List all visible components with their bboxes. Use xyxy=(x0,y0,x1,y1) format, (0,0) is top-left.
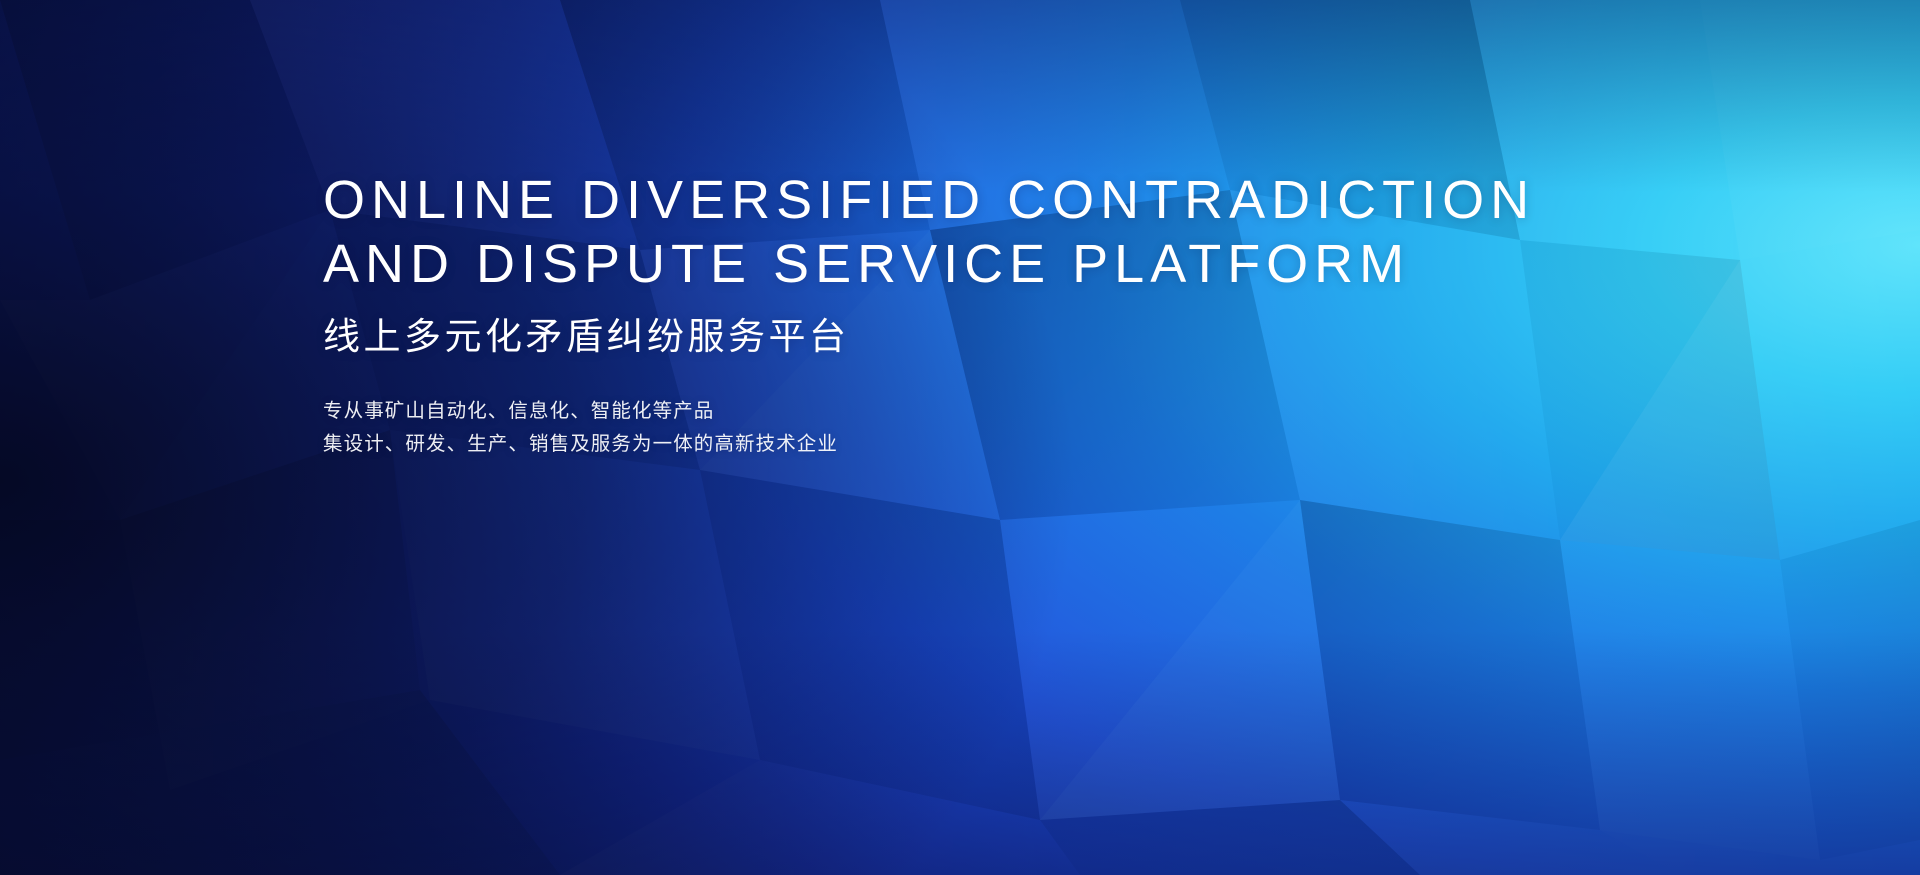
hero-banner: ONLINE DIVERSIFIED CONTRADICTION AND DIS… xyxy=(0,0,1920,875)
hero-description: 专从事矿山自动化、信息化、智能化等产品 集设计、研发、生产、销售及服务为一体的高… xyxy=(323,395,1573,461)
headline-line-2: AND DISPUTE SERVICE PLATFORM xyxy=(323,232,1573,296)
description-line-2: 集设计、研发、生产、销售及服务为一体的高新技术企业 xyxy=(323,428,1573,461)
headline-line-1: ONLINE DIVERSIFIED CONTRADICTION xyxy=(323,168,1573,232)
page-subtitle: 线上多元化矛盾纠纷服务平台 xyxy=(323,314,1573,360)
page-title: ONLINE DIVERSIFIED CONTRADICTION AND DIS… xyxy=(323,168,1573,296)
description-line-1: 专从事矿山自动化、信息化、智能化等产品 xyxy=(323,395,1573,428)
hero-content: ONLINE DIVERSIFIED CONTRADICTION AND DIS… xyxy=(323,168,1573,461)
